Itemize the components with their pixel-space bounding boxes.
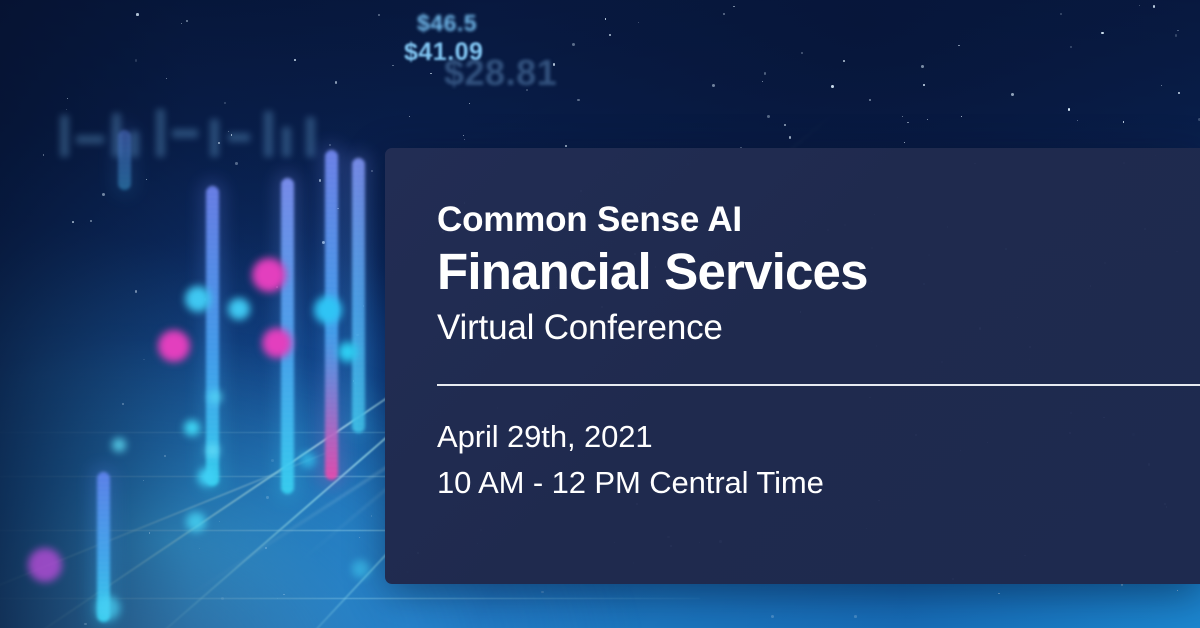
event-time: 10 AM - 12 PM Central Time bbox=[437, 466, 1160, 501]
event-title: Financial Services bbox=[437, 243, 1160, 301]
event-subtitle: Virtual Conference bbox=[437, 308, 1160, 347]
conference-promo-banner: $46.5 $41.09 $28.81 Common Sense AI Fina… bbox=[0, 0, 1200, 628]
price-label-1: $46.5 bbox=[417, 10, 477, 37]
price-label-3: $28.81 bbox=[444, 52, 557, 94]
event-kicker: Common Sense AI bbox=[437, 200, 1160, 239]
event-date: April 29th, 2021 bbox=[437, 420, 1160, 455]
event-info-card: Common Sense AI Financial Services Virtu… bbox=[385, 148, 1200, 584]
card-divider bbox=[437, 384, 1200, 386]
